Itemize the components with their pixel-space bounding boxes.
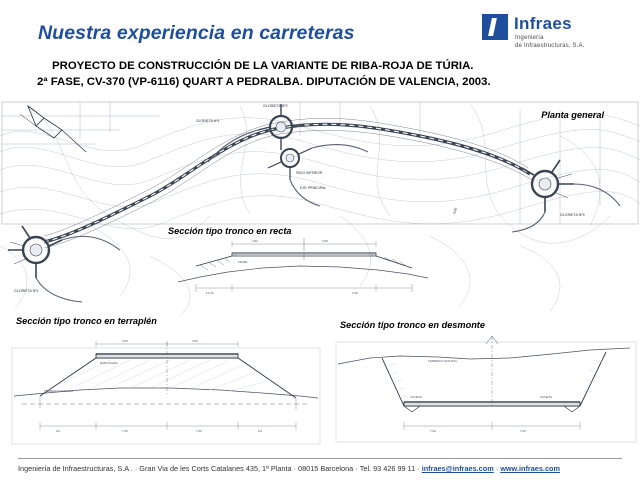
terraplen-note-1: EXPLANADA bbox=[100, 361, 118, 365]
logo-mark-icon bbox=[482, 14, 508, 40]
logo-tagline-line-2: de Infraestructuras, S.A. bbox=[515, 42, 585, 50]
subtitle-line-2: 2ª FASE, CV-370 (VP-6116) QUART A PEDRAL… bbox=[37, 74, 491, 90]
desmonte-note-1: CUNETA bbox=[410, 395, 422, 399]
label-seccion-terraplen: Sección tipo tronco en terraplén bbox=[16, 316, 157, 326]
section-recta-dim-left: 3.50 bbox=[252, 239, 258, 243]
logo-tagline-line-1: Ingeniería bbox=[515, 34, 585, 42]
footer-address: Gran Via de les Corts Catalanes 435, 1ª … bbox=[139, 464, 291, 473]
plan-annotation-labels: GLORIETA Nº1 GLORIETA Nº2 EJE PRINCIPAL … bbox=[14, 104, 585, 293]
page-title: Nuestra experiencia en carreteras bbox=[38, 22, 355, 45]
plan-label-paso-inferior: PASO INFERIOR bbox=[296, 171, 323, 175]
section-desmonte: 7.00 7.00 CUNETA CUNETA TERRENO NATURAL bbox=[336, 336, 636, 442]
logo-name: Infraes bbox=[514, 14, 572, 34]
footer-phone: Tel. 93 426 99 11 bbox=[360, 464, 415, 473]
subtitle-line-1: PROYECTO DE CONSTRUCCIÓN DE LA VARIANTE … bbox=[52, 60, 473, 72]
plan-label-roundabout-2: GLORIETA Nº2 bbox=[263, 104, 288, 108]
terraplen-dim-b: 3.50 bbox=[192, 339, 198, 343]
footer: Ingeniería de Infraestructuras, S.A . · … bbox=[18, 464, 622, 473]
footer-email-link[interactable]: infraes@infraes.com bbox=[422, 464, 494, 473]
company-logo: Infraes Ingeniería de Infraestructuras, … bbox=[482, 12, 622, 52]
footer-website-link[interactable]: www.infraes.com bbox=[500, 464, 560, 473]
slide: Nuestra experiencia en carreteras PROYEC… bbox=[0, 0, 640, 482]
plan-label-eje: EJE bbox=[452, 206, 458, 214]
terraplen-dim-c: 2/1 bbox=[56, 429, 61, 433]
section-recta-dim-berm: 1.50 bbox=[352, 291, 358, 295]
plan-label-roundabout-4: GLORIETA Nº4 bbox=[560, 213, 585, 217]
label-planta-general: Planta general bbox=[541, 110, 604, 120]
north-arrow-icon bbox=[20, 106, 86, 152]
terraplen-note-2: TERRENO NATURAL bbox=[44, 389, 74, 393]
roundabout-4 bbox=[522, 160, 574, 212]
desmonte-dim-right: 7.00 bbox=[520, 429, 526, 433]
terraplen-dim-e: 7.00 bbox=[196, 429, 202, 433]
desmonte-note-3: TERRENO NATURAL bbox=[428, 359, 458, 363]
footer-company: Ingeniería de Infraestructuras, S.A . bbox=[18, 464, 133, 473]
section-recta-dim-total: 12.00 bbox=[206, 291, 214, 295]
terraplen-dim-f: 2/1 bbox=[258, 429, 263, 433]
terraplen-dim-d: 7.00 bbox=[122, 429, 128, 433]
roundabout-1 bbox=[8, 226, 62, 278]
terraplen-dim-a: 3.50 bbox=[122, 339, 128, 343]
section-recta-dim-right: 3.50 bbox=[322, 239, 328, 243]
page-subtitle: PROYECTO DE CONSTRUCCIÓN DE LA VARIANTE … bbox=[52, 58, 491, 90]
footer-divider bbox=[18, 458, 622, 459]
footer-city: 08015 Barcelona bbox=[298, 464, 353, 473]
plan-label-roundabout-3: EJE PRINCIPAL bbox=[300, 186, 326, 190]
section-terraplen: 3.50 3.50 2/1 7.00 7.00 2/1 EXPLANADA TE… bbox=[12, 339, 320, 444]
plan-view bbox=[0, 104, 640, 316]
section-recta-note: FIRME bbox=[238, 260, 247, 264]
desmonte-dim-left: 7.00 bbox=[430, 429, 436, 433]
plan-label-roundabout-1: GLORIETA Nº1 bbox=[14, 289, 39, 293]
technical-drawing: GLORIETA Nº1 GLORIETA Nº2 EJE PRINCIPAL … bbox=[0, 96, 640, 452]
label-seccion-recta: Sección tipo tronco en recta bbox=[168, 226, 292, 236]
label-seccion-desmonte: Sección tipo tronco en desmonte bbox=[340, 320, 485, 330]
plan-label-roundabout-3b: GLORIETA Nº3 bbox=[196, 119, 219, 123]
logo-tagline: Ingeniería de Infraestructuras, S.A. bbox=[515, 34, 585, 50]
desmonte-note-2: CUNETA bbox=[540, 395, 552, 399]
section-recta: 3.50 3.50 12.00 1.50 FIRME bbox=[178, 238, 428, 295]
